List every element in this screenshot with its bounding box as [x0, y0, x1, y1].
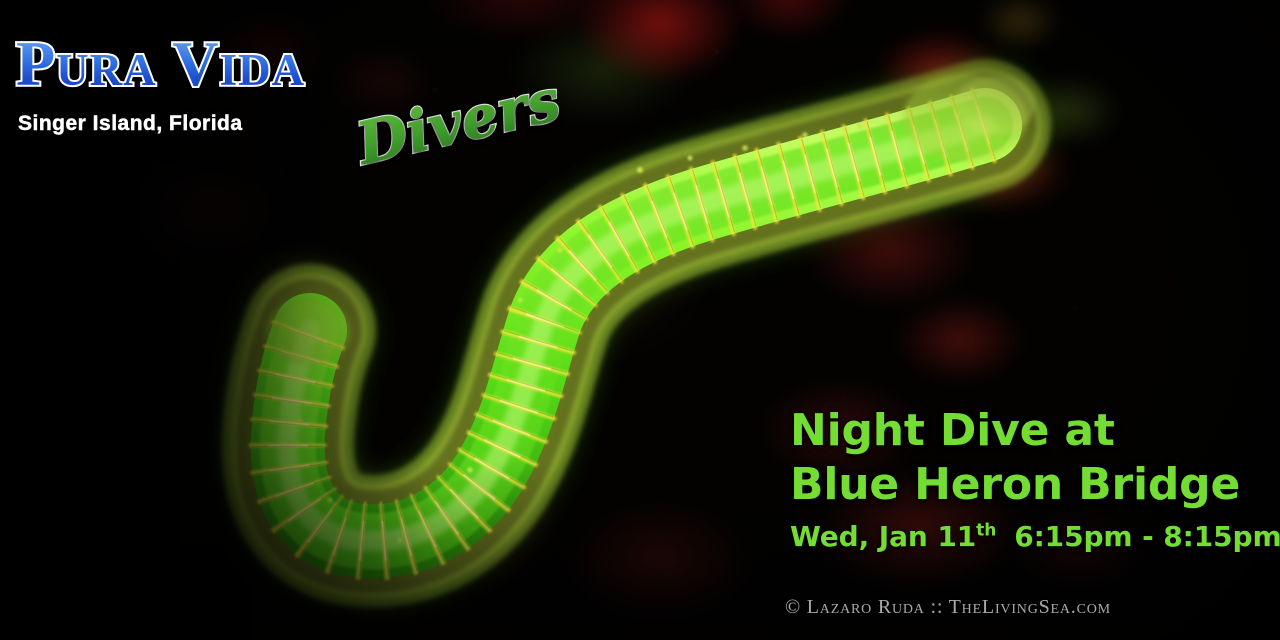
pura-vida-divers-logo[interactable]: Pura Vida Pura Vida Singer Island, Flori…: [10, 32, 550, 162]
event-date-day: Wed, Jan 11: [790, 520, 976, 553]
event-date-ordinal: th: [976, 521, 996, 541]
event-time-range: 6:15pm - 8:15pm: [1014, 520, 1280, 553]
photo-credit: © Lazaro Ruda :: TheLivingSea.com: [785, 596, 1111, 619]
event-title-line-2: Blue Heron Bridge: [790, 458, 1280, 512]
event-datetime: Wed, Jan 11th6:15pm - 8:15pm: [790, 521, 1280, 553]
poster-canvas: Pura Vida Pura Vida Singer Island, Flori…: [0, 0, 1280, 640]
event-announcement: Night Dive at Blue Heron Bridge Wed, Jan…: [790, 404, 1280, 553]
event-title-line-1: Night Dive at: [790, 404, 1280, 458]
brand-tagline: Singer Island, Florida: [18, 112, 243, 136]
